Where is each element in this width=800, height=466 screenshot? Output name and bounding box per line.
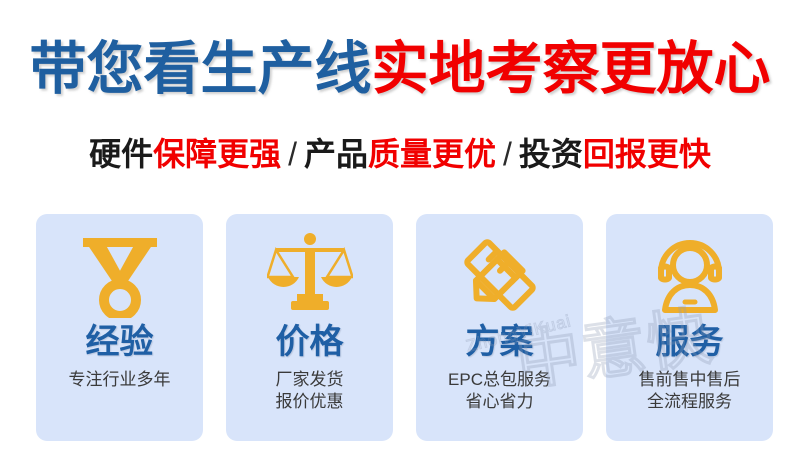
pencil-ruler-icon — [416, 232, 583, 318]
subheadline-separator-1: / — [281, 136, 304, 172]
feature-card-plan: 方案 EPC总包服务 省心省力 — [416, 214, 583, 441]
card-title: 经验 — [86, 322, 154, 362]
card-description: 专注行业多年 — [69, 369, 171, 391]
card-description-line: 全流程服务 — [639, 391, 741, 413]
card-description-line: 报价优惠 — [276, 391, 344, 413]
card-description-line: 厂家发货 — [276, 369, 344, 391]
feature-card-list: 经验 专注行业多年 — [36, 214, 773, 441]
card-description: 厂家发货 报价优惠 — [276, 369, 344, 413]
headline-blue-segment: 带您看生产线 — [30, 37, 372, 101]
subheadline-part2-red: 质量更优 — [368, 136, 496, 172]
card-description-line: 售前售中售后 — [639, 369, 741, 391]
card-description: EPC总包服务 省心省力 — [448, 369, 551, 413]
card-description: 售前售中售后 全流程服务 — [639, 369, 741, 413]
subheadline-separator-2: / — [496, 136, 519, 172]
subheadline-part1-red: 保障更强 — [153, 136, 281, 172]
card-title: 服务 — [656, 322, 724, 362]
subheadline: 硬件保障更强/产品质量更优/投资回报更快 — [0, 133, 800, 175]
medal-icon — [36, 232, 203, 318]
card-title: 价格 — [276, 322, 344, 362]
card-description-line: 专注行业多年 — [69, 369, 171, 391]
subheadline-part2-dark: 产品 — [304, 136, 368, 172]
headline-red-segment: 实地考察更放心 — [372, 37, 771, 101]
feature-card-experience: 经验 专注行业多年 — [36, 214, 203, 441]
headset-support-icon — [606, 232, 773, 318]
subheadline-part1-dark: 硬件 — [89, 136, 153, 172]
balance-scale-icon — [226, 232, 393, 318]
subheadline-part3-dark: 投资 — [519, 136, 583, 172]
card-title: 方案 — [466, 322, 534, 362]
headline: 带您看生产线实地考察更放心 — [0, 36, 800, 102]
feature-card-service: 服务 售前售中售后 全流程服务 — [606, 214, 773, 441]
feature-card-price: 价格 厂家发货 报价优惠 — [226, 214, 393, 441]
card-description-line: EPC总包服务 — [448, 369, 551, 391]
promo-banner: 带您看生产线实地考察更放心 硬件保障更强/产品质量更优/投资回报更快 — [0, 0, 800, 466]
card-description-line: 省心省力 — [448, 391, 551, 413]
subheadline-part3-red: 回报更快 — [583, 136, 711, 172]
